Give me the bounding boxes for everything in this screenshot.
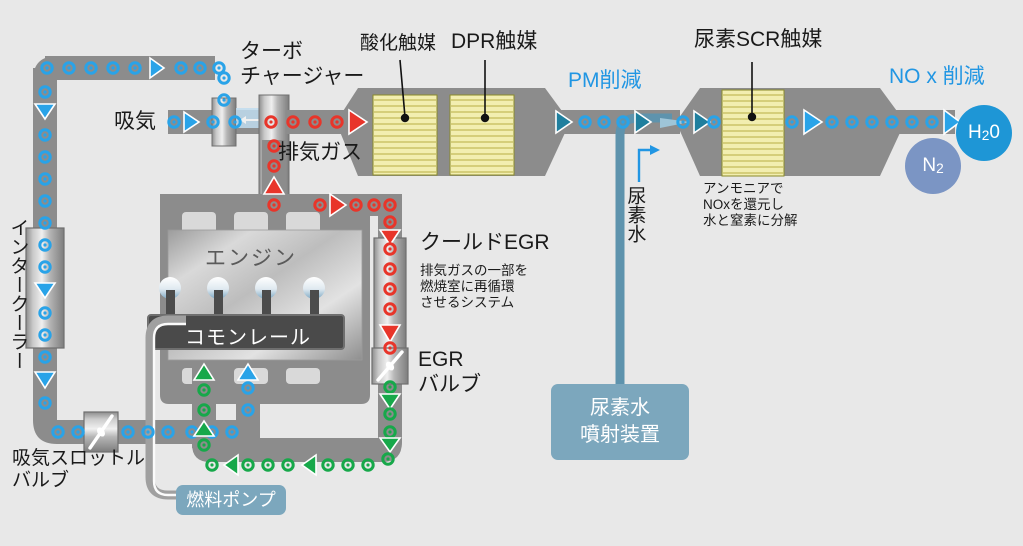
scr-note-text: アンモニアで NOxを還元し 水と窒素に分解 [703,181,798,229]
dpr-catalyst-label: DPR触媒 [451,30,537,55]
urea-water-label: 尿素水 [623,186,645,243]
h2o-main: H [968,122,982,143]
h2o-tail: 0 [989,122,1000,143]
cold-egr-note-text: 排気ガスの一部を 燃焼室に再循環 させるシステム [420,263,528,311]
engine-assembly [148,194,370,404]
diagram-canvas: ターボ チャージャー 吸気 排気ガス 酸化触媒 DPR触媒 PM削減 尿素SCR… [0,0,1023,546]
egr-valve-label: EGR バルブ [418,348,481,398]
pm-reduction-label: PM削減 [568,69,642,94]
intake-label: 吸気 [114,110,156,135]
dpr-catalyst-brick [450,95,514,175]
doc-dpr-housing [336,60,570,176]
engine-label: エンジン [205,242,297,272]
molecule-h2o: H20 [956,105,1012,161]
intake-throttle-valve-body [84,412,118,452]
urea-injector-label: 尿素水 噴射装置 [580,395,660,449]
oxidation-catalyst-label: 酸化触媒 [360,33,436,55]
scr-catalyst-brick [722,90,784,176]
turbocharger-label: ターボ チャージャー [240,40,364,90]
fuel-pump-box[interactable]: 燃料ポンプ [176,485,286,515]
oxidation-catalyst-brick [373,95,437,175]
n2-sub: 2 [936,161,944,176]
intake-throttle-valve-label: 吸気スロットル バルブ [12,448,145,493]
molecule-n2: N2 [905,138,961,194]
n2-main: N [922,155,936,176]
urea-injector-box[interactable]: 尿素水 噴射装置 [551,384,689,460]
exhaust-gas-label: 排気ガス [278,141,362,166]
cold-egr-label: クールドEGR [420,231,550,256]
fuel-pump-label: 燃料ポンプ [186,488,275,512]
urea-scr-catalyst-label: 尿素SCR触媒 [694,28,822,53]
common-rail-label: コモンレール [185,321,311,350]
nox-reduction-label: NO x 削減 [889,65,985,90]
urea-water-line [620,118,690,390]
intercooler-label: インタークーラー [6,218,28,370]
